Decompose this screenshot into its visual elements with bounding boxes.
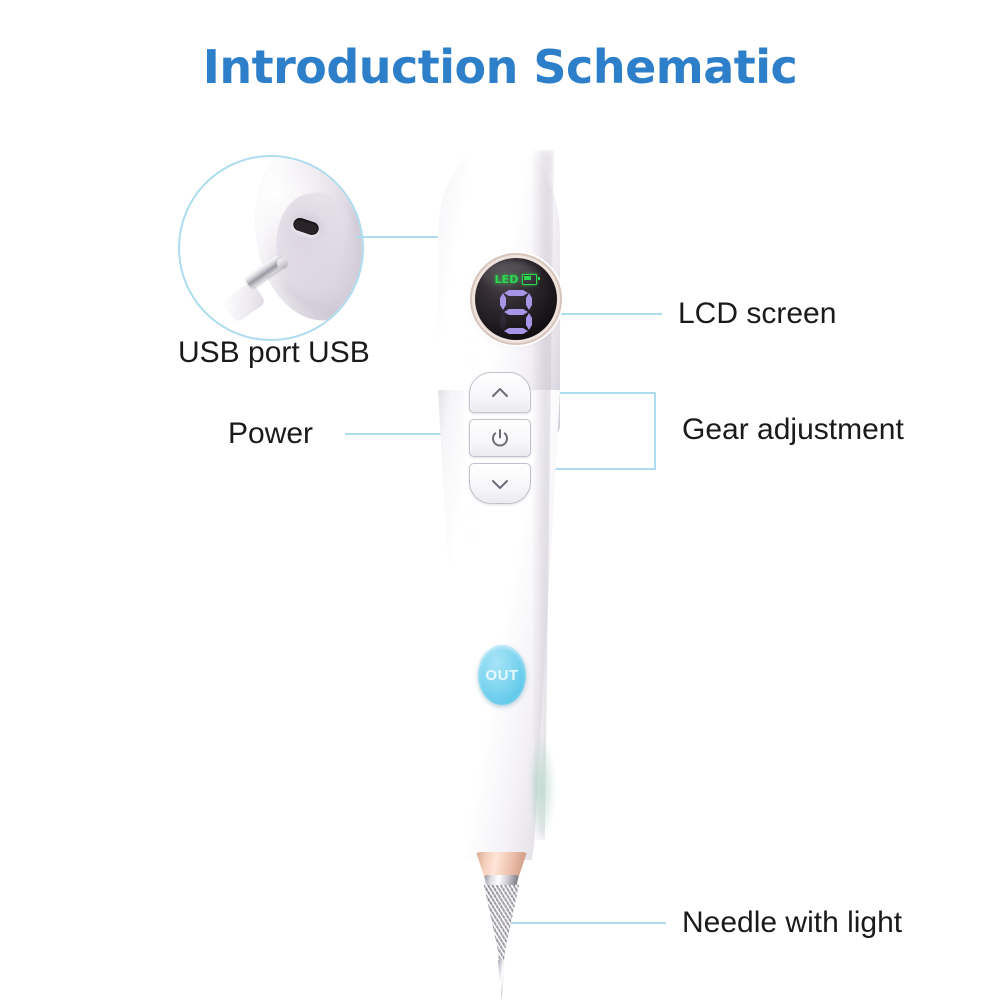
seg-g (504, 309, 528, 315)
gear-down-button[interactable] (469, 463, 531, 504)
seg-e (500, 313, 506, 330)
rose-gold-band (476, 852, 527, 878)
charging-plug-body (222, 281, 266, 323)
pen-green-reflection (532, 740, 554, 835)
lcd-screen: LED (475, 258, 557, 340)
label-usb-port: USB port USB (178, 336, 370, 370)
seg-d (504, 328, 528, 334)
seg-c (526, 313, 532, 330)
callout-line-gear-join (654, 392, 656, 470)
lcd-gear-digit (498, 290, 534, 334)
out-button[interactable]: OUT (478, 645, 526, 705)
label-power: Power (228, 417, 313, 451)
out-button-label: OUT (485, 667, 518, 684)
seg-b (526, 293, 532, 310)
label-gear-adjustment: Gear adjustment (682, 413, 904, 447)
label-needle-with-light: Needle with light (682, 906, 902, 940)
seg-f (500, 293, 506, 310)
seg-a (504, 290, 528, 296)
power-button[interactable] (469, 419, 531, 457)
gear-up-button[interactable] (469, 372, 531, 413)
usb-port-magnifier-circle (178, 155, 364, 341)
schematic-canvas: Introduction Schematic LED (0, 0, 1000, 1000)
lcd-led-label: LED (495, 273, 519, 286)
mole-removal-pen: LED (420, 140, 610, 960)
power-icon (489, 427, 511, 449)
lcd-status-row: LED (475, 273, 557, 286)
label-lcd-screen: LCD screen (678, 297, 836, 331)
chevron-up-icon (489, 382, 511, 404)
needle-knurled-cone (484, 885, 519, 965)
chevron-down-icon (489, 473, 511, 495)
page-title: Introduction Schematic (0, 40, 1000, 94)
needle-tip (498, 960, 505, 1000)
battery-icon (522, 274, 537, 285)
